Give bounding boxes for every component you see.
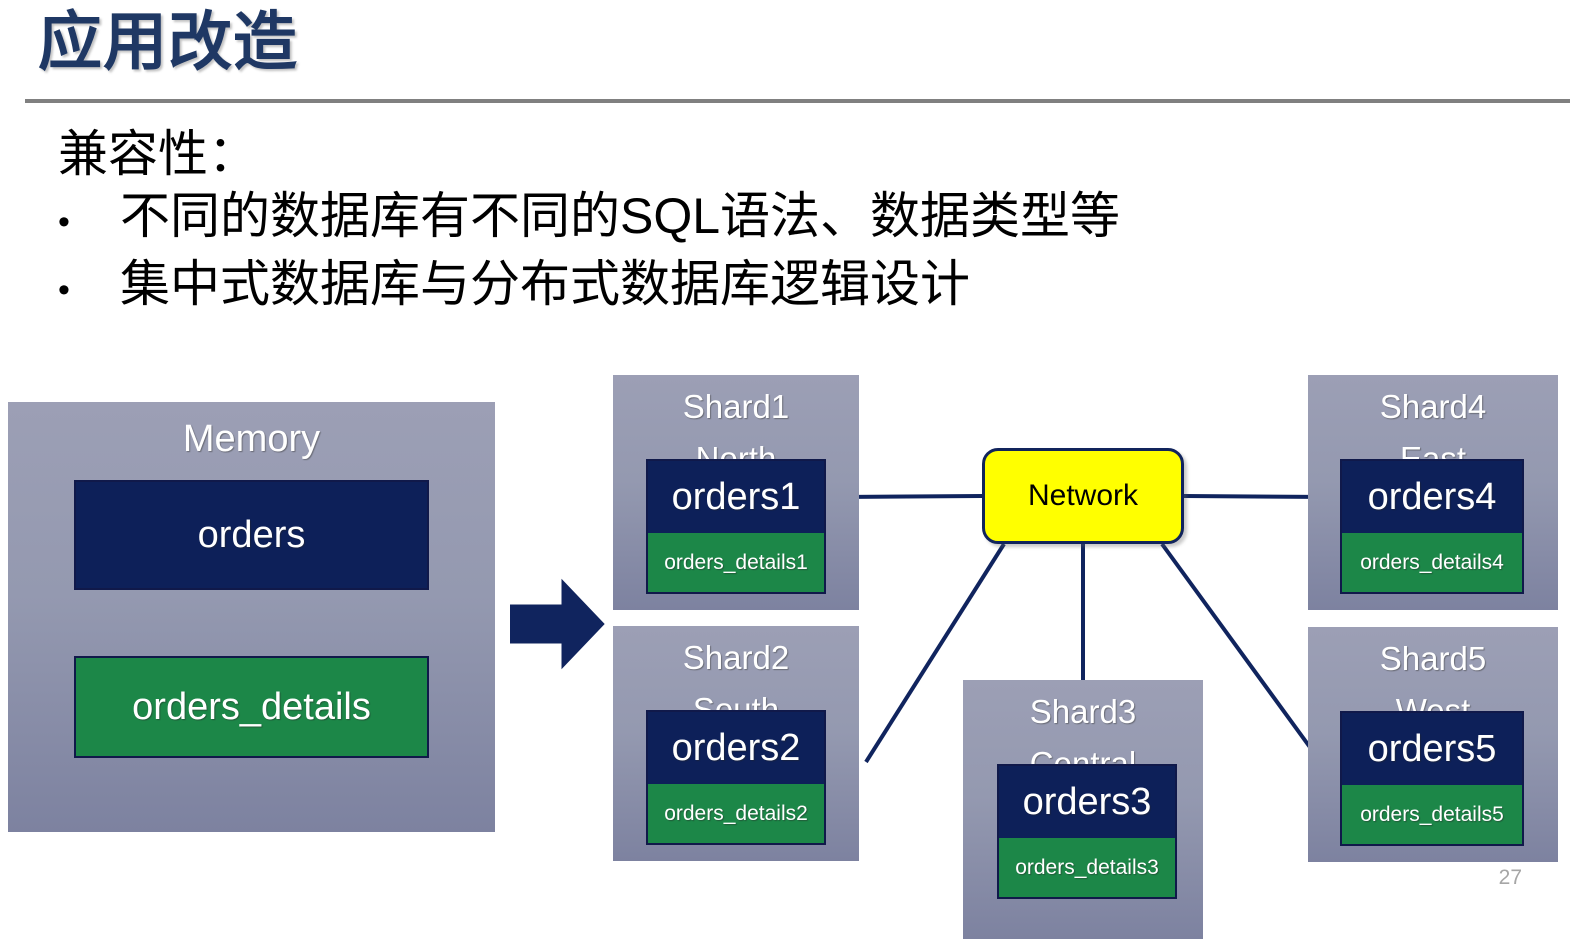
right-arrow-icon [510, 578, 606, 670]
shard5-title: Shard5 [1308, 639, 1558, 679]
shard5-table-main[interactable]: orders5 [1342, 713, 1522, 785]
shard2-title: Shard2 [613, 638, 859, 678]
shard4-table-main[interactable]: orders4 [1342, 461, 1522, 533]
shard-container-shard2[interactable]: Shard2 South orders2 orders_details2 [613, 626, 859, 861]
shard-container-shard1[interactable]: Shard1 North orders1 orders_details1 [613, 375, 859, 610]
shard4-tables: orders4 orders_details4 [1340, 459, 1524, 594]
sharding-diagram: Memory orders orders_details Shard1 Nort… [0, 0, 1594, 939]
shard1-table-sub[interactable]: orders_details1 [648, 533, 824, 592]
shard3-title: Shard3 [963, 692, 1203, 732]
memory-table-orders-details[interactable]: orders_details [74, 656, 429, 758]
shard3-table-main[interactable]: orders3 [999, 766, 1175, 838]
shard2-table-main[interactable]: orders2 [648, 712, 824, 784]
page-number: 27 [1499, 866, 1522, 890]
shard2-tables: orders2 orders_details2 [646, 710, 826, 845]
shard-container-shard3[interactable]: Shard3 Central orders3 orders_details3 [963, 680, 1203, 939]
shard5-tables: orders5 orders_details5 [1340, 711, 1524, 846]
shard1-table-main[interactable]: orders1 [648, 461, 824, 533]
shard4-title: Shard4 [1308, 387, 1558, 427]
memory-container[interactable]: Memory orders orders_details [8, 402, 495, 832]
shard2-table-sub[interactable]: orders_details2 [648, 784, 824, 843]
shard1-tables: orders1 orders_details1 [646, 459, 826, 594]
memory-title: Memory [8, 416, 495, 462]
shard-container-shard5[interactable]: Shard5 West orders5 orders_details5 [1308, 627, 1558, 862]
shard3-tables: orders3 orders_details3 [997, 764, 1177, 899]
shard4-table-sub[interactable]: orders_details4 [1342, 533, 1522, 592]
shard1-title: Shard1 [613, 387, 859, 427]
memory-table-orders[interactable]: orders [74, 480, 429, 590]
shard-container-shard4[interactable]: Shard4 East orders4 orders_details4 [1308, 375, 1558, 610]
network-node[interactable]: Network [982, 448, 1184, 544]
shard3-table-sub[interactable]: orders_details3 [999, 838, 1175, 897]
shard5-table-sub[interactable]: orders_details5 [1342, 785, 1522, 844]
